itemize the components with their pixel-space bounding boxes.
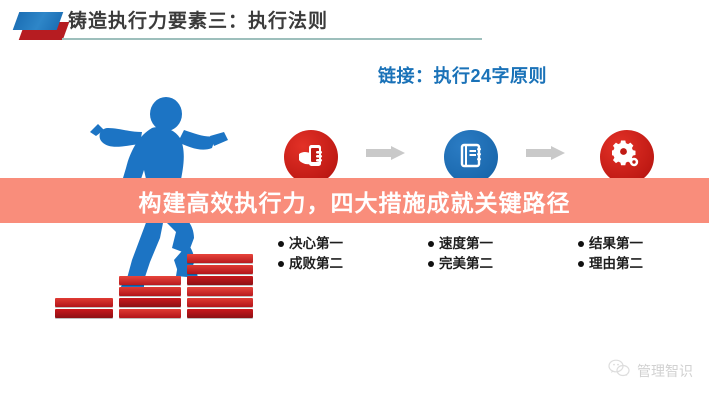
right-arrow-icon [366,146,408,160]
bullet-dot-icon [578,241,584,247]
flow-circle-1[interactable] [284,130,338,184]
bullet-dot-icon [428,241,434,247]
bullet-column-2: 速度第一 完美第二 [428,234,578,274]
right-arrow-icon [526,146,568,160]
list-item: 决心第一 [278,234,428,254]
section-title: 链接：执行24字原则 [378,62,547,88]
list-item: 速度第一 [428,234,578,254]
watermark: 管理智识 [608,359,693,382]
gear-icon [612,140,642,175]
hand-holding-phone-icon [296,140,326,175]
overlay-banner-text: 构建高效执行力，四大措施成就关键路径 [0,178,709,223]
stacked-books-steps-icon [55,248,260,320]
header-divider [62,38,482,40]
flow-circle-2[interactable] [444,130,498,184]
list-item: 完美第二 [428,254,578,274]
bullet-column-3: 结果第一 理由第二 [578,234,709,274]
wechat-icon [608,359,630,382]
notebook-icon [457,141,485,174]
bullet-dot-icon [578,261,584,267]
bullet-dot-icon [278,261,284,267]
slide-header: 铸造执行力要素三：执行法则 [0,0,709,52]
page-title: 铸造执行力要素三：执行法则 [68,6,328,33]
list-item: 成败第二 [278,254,428,274]
watermark-label: 管理智识 [637,361,693,381]
bullet-dot-icon [428,261,434,267]
list-item: 结果第一 [578,234,709,254]
flow-circle-3[interactable] [600,130,654,184]
bullet-column-1: 决心第一 成败第二 [278,234,428,274]
list-item: 理由第二 [578,254,709,274]
slide-canvas: 铸造执行力要素三：执行法则 链接：执行24字原则 [0,0,709,400]
bullet-dot-icon [278,241,284,247]
